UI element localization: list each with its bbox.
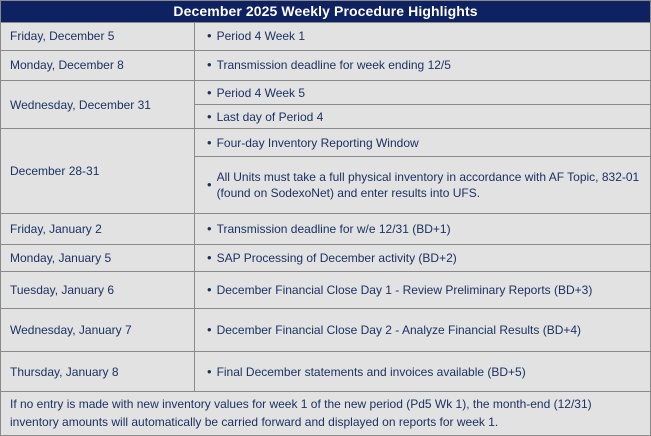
list-item: • All Units must take a full physical in… — [195, 157, 650, 213]
table-row: Monday, December 8 • Transmission deadli… — [1, 51, 650, 82]
list-item: • Transmission deadline for week ending … — [195, 51, 650, 81]
list-item-text: Final December statements and invoices a… — [217, 365, 646, 379]
list-item: • Period 4 Week 5 — [195, 81, 650, 105]
list-item: • December Financial Close Day 2 - Analy… — [195, 309, 650, 351]
row-date-cell: Monday, January 5 — [1, 245, 195, 272]
procedure-highlights-document: December 2025 Weekly Procedure Highlight… — [0, 0, 651, 436]
list-item: • Last day of Period 4 — [195, 105, 650, 128]
bullet-icon: • — [207, 29, 212, 42]
row-date-label: Wednesday, January 7 — [10, 323, 132, 337]
bullet-icon: • — [207, 136, 212, 149]
list-item-text: Period 4 Week 5 — [217, 86, 646, 100]
row-date-cell: Friday, January 2 — [1, 214, 195, 244]
row-date-label: Thursday, January 8 — [10, 365, 119, 379]
row-date-label: Friday, January 2 — [10, 222, 102, 236]
list-item: • Final December statements and invoices… — [195, 352, 650, 391]
footer-note: If no entry is made with new inventory v… — [1, 391, 650, 435]
row-items-cell: • Period 4 Week 1 — [195, 23, 650, 50]
bullet-icon: • — [207, 58, 212, 71]
table-row: Tuesday, January 6 • December Financial … — [1, 272, 650, 308]
page-title: December 2025 Weekly Procedure Highlight… — [1, 1, 650, 23]
row-date-cell: Tuesday, January 6 — [1, 272, 195, 307]
list-item: • Four-day Inventory Reporting Window — [195, 129, 650, 157]
table-row: December 28-31 • Four-day Inventory Repo… — [1, 129, 650, 214]
row-date-label: Friday, December 5 — [10, 29, 114, 43]
row-date-cell: December 28-31 — [1, 129, 195, 213]
row-items-cell: • Four-day Inventory Reporting Window • … — [195, 129, 650, 213]
bullet-icon: • — [207, 365, 212, 378]
row-date-cell: Wednesday, December 31 — [1, 81, 195, 128]
list-item: • SAP Processing of December activity (B… — [195, 245, 650, 272]
table-row: Thursday, January 8 • Final December sta… — [1, 352, 650, 391]
table-row: Wednesday, January 7 • December Financia… — [1, 309, 650, 352]
row-date-label: Wednesday, December 31 — [10, 98, 151, 112]
schedule-table: Friday, December 5 • Period 4 Week 1 Mon… — [1, 23, 650, 391]
list-item: • December Financial Close Day 1 - Revie… — [195, 272, 650, 307]
row-date-cell: Monday, December 8 — [1, 51, 195, 81]
table-row: Friday, December 5 • Period 4 Week 1 — [1, 23, 650, 51]
row-date-label: Monday, January 5 — [10, 251, 111, 265]
row-items-cell: • Transmission deadline for week ending … — [195, 51, 650, 81]
row-date-cell: Friday, December 5 — [1, 23, 195, 50]
bullet-icon: • — [207, 323, 212, 336]
row-items-cell: • December Financial Close Day 2 - Analy… — [195, 309, 650, 351]
row-items-cell: • Period 4 Week 5 • Last day of Period 4 — [195, 81, 650, 128]
table-row: Wednesday, December 31 • Period 4 Week 5… — [1, 81, 650, 129]
bullet-icon: • — [207, 86, 212, 99]
list-item-text: Transmission deadline for w/e 12/31 (BD+… — [217, 222, 646, 236]
list-item-text: December Financial Close Day 2 - Analyze… — [217, 323, 646, 337]
list-item-text: Period 4 Week 1 — [217, 29, 646, 43]
bullet-icon: • — [207, 283, 212, 296]
list-item-text: December Financial Close Day 1 - Review … — [217, 283, 646, 297]
bullet-icon: • — [207, 178, 212, 191]
row-items-cell: • Transmission deadline for w/e 12/31 (B… — [195, 214, 650, 244]
row-items-cell: • SAP Processing of December activity (B… — [195, 245, 650, 272]
list-item: • Transmission deadline for w/e 12/31 (B… — [195, 214, 650, 244]
bullet-icon: • — [207, 110, 212, 123]
row-date-cell: Wednesday, January 7 — [1, 309, 195, 351]
list-item-text: SAP Processing of December activity (BD+… — [217, 251, 646, 265]
row-date-label: December 28-31 — [10, 164, 99, 178]
row-date-label: Tuesday, January 6 — [10, 283, 114, 297]
row-items-cell: • December Financial Close Day 1 - Revie… — [195, 272, 650, 307]
list-item-text: Four-day Inventory Reporting Window — [217, 136, 646, 150]
list-item-text: Last day of Period 4 — [217, 110, 646, 124]
list-item: • Period 4 Week 1 — [195, 23, 650, 50]
bullet-icon: • — [207, 222, 212, 235]
row-date-cell: Thursday, January 8 — [1, 352, 195, 391]
list-item-text: Transmission deadline for week ending 12… — [217, 58, 646, 72]
bullet-icon: • — [207, 251, 212, 264]
row-items-cell: • Final December statements and invoices… — [195, 352, 650, 391]
row-date-label: Monday, December 8 — [10, 58, 124, 72]
list-item-text: All Units must take a full physical inve… — [217, 169, 646, 201]
table-row: Friday, January 2 • Transmission deadlin… — [1, 214, 650, 245]
table-row: Monday, January 5 • SAP Processing of De… — [1, 245, 650, 273]
